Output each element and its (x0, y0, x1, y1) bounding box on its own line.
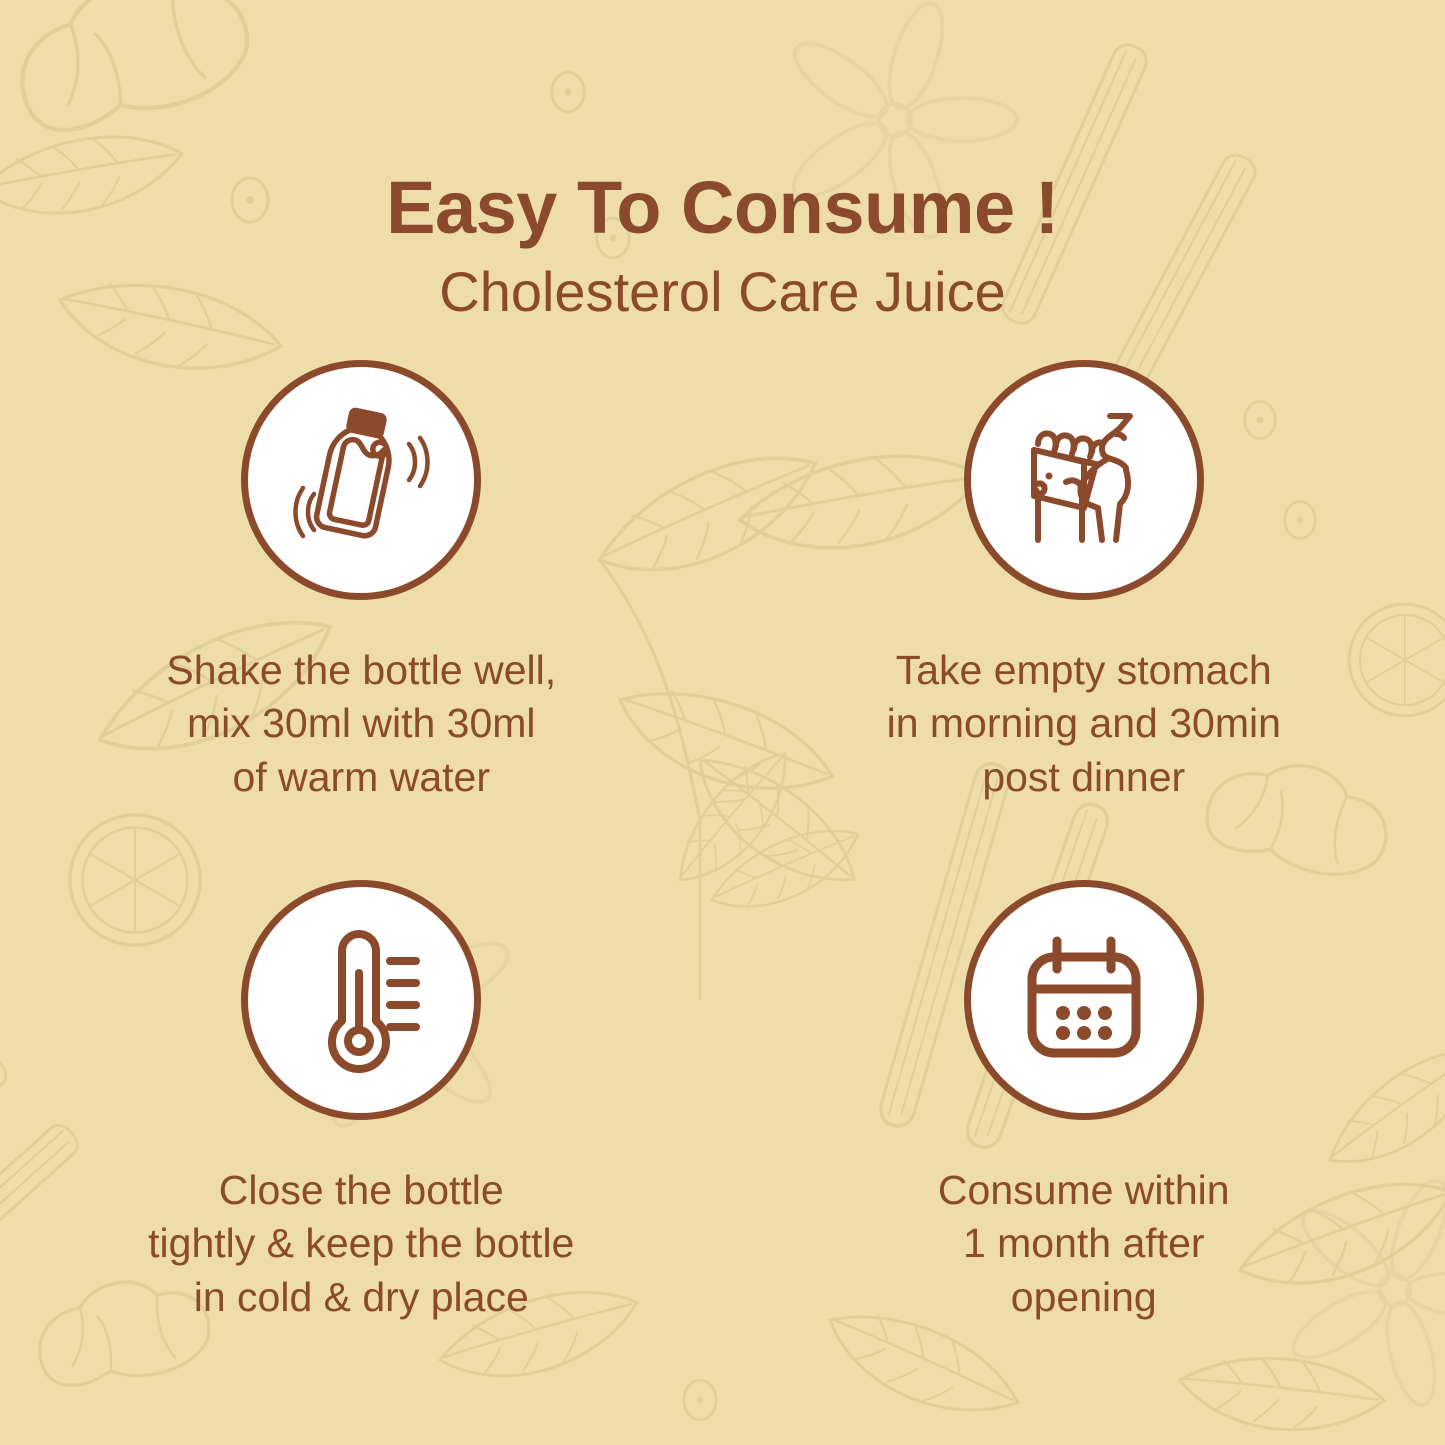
step-shake-bottle: Shake the bottle well, mix 30ml with 30m… (0, 360, 723, 880)
icon-circle-calendar (964, 880, 1204, 1120)
page-title: Easy To Consume ! (0, 168, 1445, 248)
step-empty-stomach: Take empty stomach in morning and 30min … (723, 360, 1445, 880)
step-caption: Close the bottle tightly & keep the bott… (148, 1164, 574, 1324)
icon-circle-drink (964, 360, 1204, 600)
step-caption: Shake the bottle well, mix 30ml with 30m… (166, 644, 556, 804)
poster-header: Easy To Consume ! Cholesterol Care Juice (0, 168, 1445, 325)
page-subtitle: Cholesterol Care Juice (0, 258, 1445, 325)
step-store-cold-dry: Close the bottle tightly & keep the bott… (0, 880, 723, 1400)
steps-grid: Shake the bottle well, mix 30ml with 30m… (0, 360, 1445, 1400)
shaking-bottle-icon (281, 400, 441, 560)
step-consume-within-month: Consume within 1 month after opening (723, 880, 1445, 1400)
step-caption: Consume within 1 month after opening (938, 1164, 1230, 1324)
thermometer-icon (286, 925, 436, 1075)
infographic-poster: Easy To Consume ! Cholesterol Care Juice (0, 0, 1445, 1445)
icon-circle-thermometer (241, 880, 481, 1120)
calendar-icon (1009, 925, 1159, 1075)
step-caption: Take empty stomach in morning and 30min … (887, 644, 1281, 804)
person-drinking-icon (1004, 400, 1164, 560)
icon-circle-shake (241, 360, 481, 600)
